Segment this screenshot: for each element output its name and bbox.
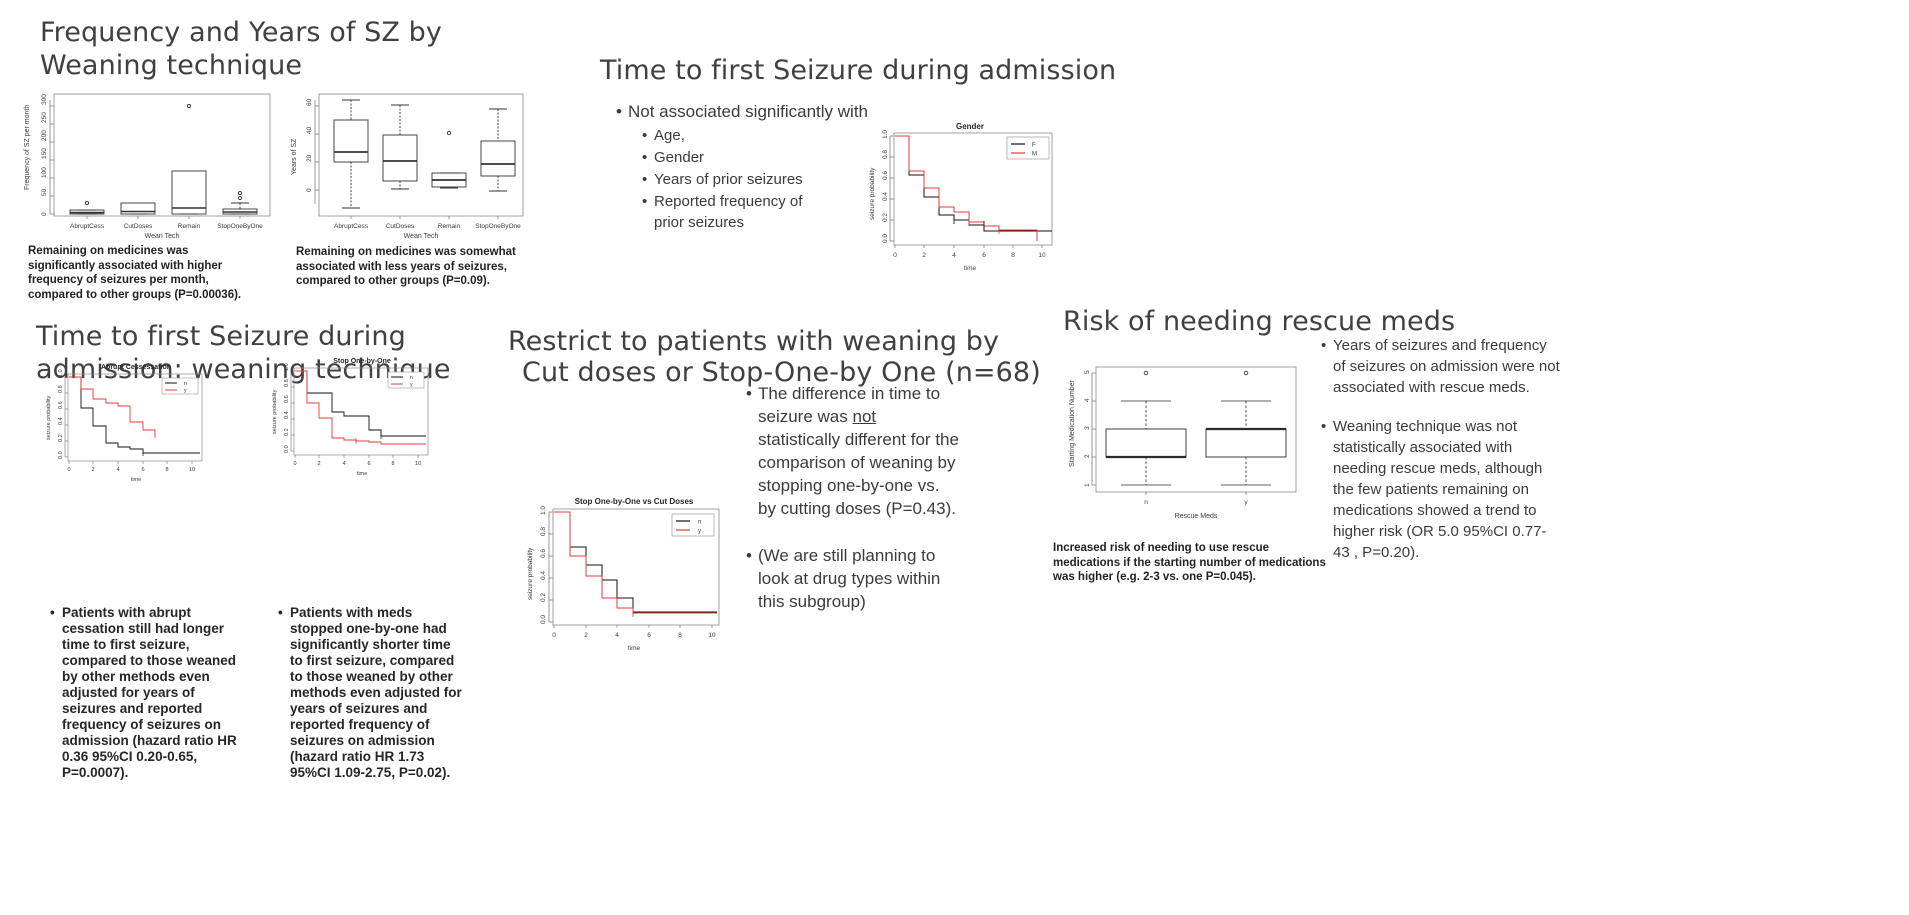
svg-text:2: 2 <box>317 461 320 467</box>
slide3-right-list: Patients with meds stopped one-by-one ha… <box>262 605 462 781</box>
svg-text:0.0: 0.0 <box>284 445 290 453</box>
svg-text:seizure probability: seizure probability <box>869 167 876 220</box>
svg-text:0.6: 0.6 <box>284 395 290 403</box>
svg-text:8: 8 <box>678 632 682 639</box>
svg-text:Remain: Remain <box>438 223 461 230</box>
svg-text:Gender: Gender <box>956 122 984 131</box>
svg-text:0: 0 <box>893 252 897 259</box>
list-item: Years of seizures and frequency of seizu… <box>1321 335 1560 398</box>
svg-text:2: 2 <box>91 467 94 473</box>
svg-text:250: 250 <box>41 112 48 123</box>
svg-text:8: 8 <box>391 461 394 467</box>
svg-text:50: 50 <box>41 188 48 196</box>
gender-km-svg: Gender seizure probability 0.0 0.2 0.4 0… <box>852 115 1064 280</box>
svg-text:150: 150 <box>41 148 48 159</box>
rescue-meds-svg: Starting Medication Number 1 2 3 4 5 <box>1056 352 1311 527</box>
svg-text:Wean Tech: Wean Tech <box>145 233 180 240</box>
slide4-bullet-list: The difference in time to seizure was no… <box>730 382 960 613</box>
svg-text:0: 0 <box>552 632 556 639</box>
svg-text:100: 100 <box>41 167 48 178</box>
list-item: Reported frequency of prior seizures <box>642 191 824 233</box>
slide3-bullet-left-wrap: Patients with abrupt cessation still had… <box>34 605 252 782</box>
chart-freq-sz-box: Frequency of SZ per month 0 50 100 150 2… <box>20 80 285 240</box>
svg-text:AbruptCess: AbruptCess <box>334 223 369 230</box>
svg-text:6: 6 <box>647 632 651 639</box>
svg-text:1: 1 <box>1084 483 1091 487</box>
svg-text:2: 2 <box>922 252 926 259</box>
list-item: Weaning technique was not statistically … <box>1321 416 1560 563</box>
svg-text:Abrupt Cessessation: Abrupt Cessessation <box>101 364 171 371</box>
svg-text:n: n <box>698 520 701 526</box>
svg-text:60: 60 <box>306 98 313 106</box>
svg-text:0.8: 0.8 <box>540 527 547 536</box>
svg-text:0.6: 0.6 <box>58 401 64 409</box>
abrupt-km-svg: Abrupt Cessessation seizure probability … <box>36 358 214 488</box>
svg-text:0.0: 0.0 <box>58 451 64 459</box>
svg-text:10: 10 <box>708 632 716 639</box>
years-sz-svg: Years of SZ 0 20 40 60 <box>280 80 540 240</box>
stop-vs-cut-km-svg: Stop One-by-One vs Cut Doses seizure pro… <box>512 490 732 670</box>
slide1-caption-right: Remaining on medicines was somewhat asso… <box>296 245 518 289</box>
svg-text:0.4: 0.4 <box>284 411 290 419</box>
bullet1-pre: The difference in time to seizure was <box>758 384 940 426</box>
svg-text:time: time <box>964 265 977 272</box>
svg-text:Years of SZ: Years of SZ <box>291 138 298 175</box>
chart-stop-vs-cut-km: Stop One-by-One vs Cut Doses seizure pro… <box>512 490 732 670</box>
svg-text:10: 10 <box>415 461 421 467</box>
svg-text:0.4: 0.4 <box>882 192 889 201</box>
svg-text:0.2: 0.2 <box>284 428 290 436</box>
chart-stop-one-km: Stop One-by-One seizure probability 0.0 … <box>262 352 440 482</box>
svg-text:10: 10 <box>189 467 195 473</box>
svg-text:1.0: 1.0 <box>284 363 290 371</box>
svg-text:time: time <box>357 471 367 477</box>
list-item: (We are still planning to look at drug t… <box>746 544 960 613</box>
svg-text:Starting Medication Number: Starting Medication Number <box>1069 380 1076 467</box>
svg-text:y: y <box>1244 499 1248 506</box>
svg-text:AbruptCess: AbruptCess <box>70 223 105 230</box>
svg-text:2: 2 <box>1084 454 1091 458</box>
bullet1-post: statistically different for the comparis… <box>758 430 959 518</box>
svg-text:0.0: 0.0 <box>540 615 547 624</box>
svg-text:20: 20 <box>306 154 313 162</box>
bullet1-emphasis: not <box>852 407 876 426</box>
list-item: The difference in time to seizure was no… <box>746 382 960 520</box>
svg-text:0: 0 <box>293 461 296 467</box>
svg-text:n: n <box>184 381 187 387</box>
svg-text:6: 6 <box>367 461 370 467</box>
svg-text:10: 10 <box>1038 252 1046 259</box>
svg-text:n: n <box>410 375 413 381</box>
stop-one-km-svg: Stop One-by-One seizure probability 0.0 … <box>262 352 440 482</box>
svg-text:4: 4 <box>116 467 119 473</box>
slide2-title: Time to first Seizure during admission <box>600 54 1120 87</box>
svg-text:F: F <box>1032 143 1036 149</box>
svg-text:5: 5 <box>1084 370 1091 374</box>
svg-text:0.2: 0.2 <box>540 593 547 602</box>
svg-text:Rescue Meds: Rescue Meds <box>1175 513 1218 520</box>
chart-abrupt-km: Abrupt Cessessation seizure probability … <box>36 358 214 488</box>
svg-text:n: n <box>1144 499 1148 506</box>
slide4-title-line1: Restrict to patients with weaning by <box>508 325 1028 358</box>
svg-text:M: M <box>1032 152 1037 158</box>
slide5-bullets: Years of seizures and frequency of seizu… <box>1305 335 1560 564</box>
svg-text:0.0: 0.0 <box>882 234 889 243</box>
svg-text:seizure probability: seizure probability <box>46 395 52 440</box>
svg-text:0.8: 0.8 <box>882 150 889 159</box>
svg-text:0.2: 0.2 <box>58 434 64 442</box>
list-item: Patients with abrupt cessation still had… <box>50 605 252 781</box>
chart-years-sz-box: Years of SZ 0 20 40 60 <box>280 80 540 240</box>
svg-text:CutDoses: CutDoses <box>124 223 153 230</box>
svg-text:seizure probability: seizure probability <box>272 389 278 434</box>
slide1-title: Frequency and Years of SZ by Weaning tec… <box>40 16 490 82</box>
slide4-bullets: The difference in time to seizure was no… <box>730 382 960 614</box>
svg-text:8: 8 <box>1011 252 1015 259</box>
svg-text:0.8: 0.8 <box>58 385 64 393</box>
svg-text:6: 6 <box>141 467 144 473</box>
slide5-caption: Increased risk of needing to use rescue … <box>1053 541 1328 585</box>
svg-text:1.0: 1.0 <box>882 130 889 139</box>
svg-text:0.4: 0.4 <box>58 417 64 425</box>
chart-rescue-meds-box: Starting Medication Number 1 2 3 4 5 <box>1056 352 1311 527</box>
svg-text:0.4: 0.4 <box>540 571 547 580</box>
svg-text:StopOneByOne: StopOneByOne <box>475 223 521 230</box>
svg-text:0.8: 0.8 <box>284 379 290 387</box>
chart-gender-km: Gender seizure probability 0.0 0.2 0.4 0… <box>852 115 1064 280</box>
slide5-title: Risk of needing rescue meds <box>1063 305 1483 338</box>
svg-text:3: 3 <box>1084 426 1091 430</box>
svg-text:0.2: 0.2 <box>882 213 889 222</box>
svg-text:200: 200 <box>41 130 48 141</box>
svg-text:300: 300 <box>41 94 48 105</box>
svg-text:Frequency of SZ per month: Frequency of SZ per month <box>24 105 31 190</box>
svg-text:CutDoses: CutDoses <box>386 223 415 230</box>
svg-text:40: 40 <box>306 126 313 134</box>
svg-text:Stop One-by-One: Stop One-by-One <box>333 358 391 365</box>
svg-text:4: 4 <box>342 461 345 467</box>
freq-sz-svg: Frequency of SZ per month 0 50 100 150 2… <box>20 80 285 240</box>
svg-text:time: time <box>628 645 641 652</box>
svg-text:6: 6 <box>982 252 986 259</box>
svg-text:Stop One-by-One vs Cut Doses: Stop One-by-One vs Cut Doses <box>575 497 694 506</box>
svg-text:1.0: 1.0 <box>58 369 64 377</box>
svg-text:time: time <box>131 477 141 483</box>
svg-text:0.6: 0.6 <box>882 171 889 180</box>
svg-text:2: 2 <box>584 632 588 639</box>
svg-text:StopOneByOne: StopOneByOne <box>217 223 263 230</box>
svg-text:1.0: 1.0 <box>540 506 547 515</box>
svg-text:y: y <box>698 529 701 535</box>
slide5-bullet-list: Years of seizures and frequency of seizu… <box>1305 335 1560 563</box>
slide3-bullet-right-wrap: Patients with meds stopped one-by-one ha… <box>262 605 462 782</box>
slide3-left-list: Patients with abrupt cessation still had… <box>34 605 252 781</box>
list-item: Patients with meds stopped one-by-one ha… <box>278 605 462 781</box>
svg-text:seizure probability: seizure probability <box>527 547 534 600</box>
svg-text:8: 8 <box>165 467 168 473</box>
svg-text:Wean Tech: Wean Tech <box>404 233 439 240</box>
svg-text:0.6: 0.6 <box>540 549 547 558</box>
svg-text:4: 4 <box>1084 398 1091 402</box>
svg-text:0: 0 <box>306 188 313 192</box>
slide1-caption-left: Remaining on medicines was significantly… <box>28 244 253 302</box>
svg-text:0: 0 <box>41 212 48 216</box>
svg-text:4: 4 <box>615 632 619 639</box>
svg-text:0: 0 <box>67 467 70 473</box>
svg-text:Remain: Remain <box>178 223 201 230</box>
svg-text:4: 4 <box>952 252 956 259</box>
